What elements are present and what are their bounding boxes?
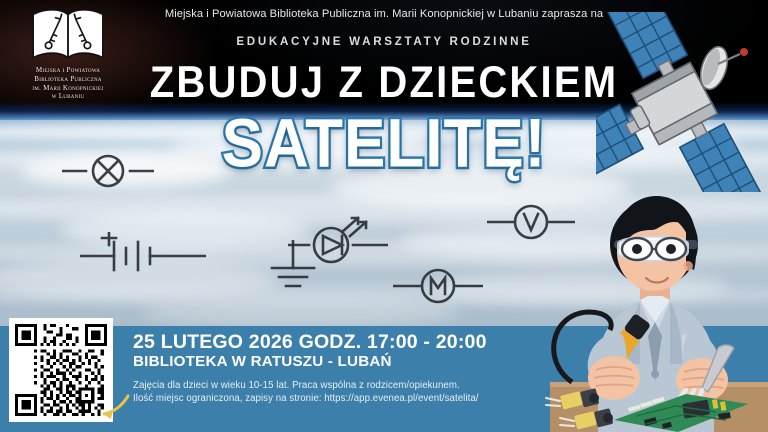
page-title-line-1: ZBUDUJ Z DZIECKIEM	[124, 58, 644, 107]
event-note-line-2: Ilość miejsc ograniczona, zapisy na stro…	[133, 393, 479, 406]
poster-root: Miejska i Powiatowa Biblioteka Publiczna…	[0, 0, 768, 432]
library-logo: Miejska i Powiatowa Biblioteka Publiczna…	[12, 2, 124, 114]
page-title-line-2: SATELITĘ!	[124, 108, 644, 181]
lamp-symbol	[62, 150, 154, 192]
logo-caption-line-1: Miejska i Powiatowa	[32, 66, 103, 75]
organizer-line: Miejska i Powiatowa Biblioteka Publiczna…	[124, 8, 644, 20]
qr-pointer-arrow-icon	[100, 392, 130, 422]
open-book-with-crossed-keys-icon	[29, 2, 107, 64]
person-soldering-illustration	[536, 186, 768, 432]
logo-caption-line-4: w Lubaniu	[32, 92, 103, 101]
event-venue: BIBLIOTEKA W RATUSZU - LUBAŃ	[133, 353, 392, 370]
logo-caption-line-3: im. Marii Konopnickiej	[32, 84, 103, 93]
event-note-line-1: Zajęcia dla dzieci w wieku 10-15 lat. Pr…	[133, 380, 479, 393]
satellite-illustration	[596, 12, 768, 192]
battery-symbol	[80, 232, 206, 272]
qr-code-registration[interactable]	[9, 318, 113, 422]
qr-code-icon	[15, 324, 107, 416]
led-symbol	[288, 212, 388, 268]
logo-caption-line-2: Biblioteka Publiczna	[32, 75, 103, 84]
event-datetime: 25 LUTEGO 2026 GODZ. 17:00 - 20:00	[133, 331, 487, 354]
event-note: Zajęcia dla dzieci w wieku 10-15 lat. Pr…	[133, 380, 479, 405]
motor-symbol	[393, 264, 483, 308]
logo-caption: Miejska i Powiatowa Biblioteka Publiczna…	[32, 66, 103, 101]
event-type-label: EDUKACYJNE WARSZTATY RODZINNE	[124, 35, 644, 48]
